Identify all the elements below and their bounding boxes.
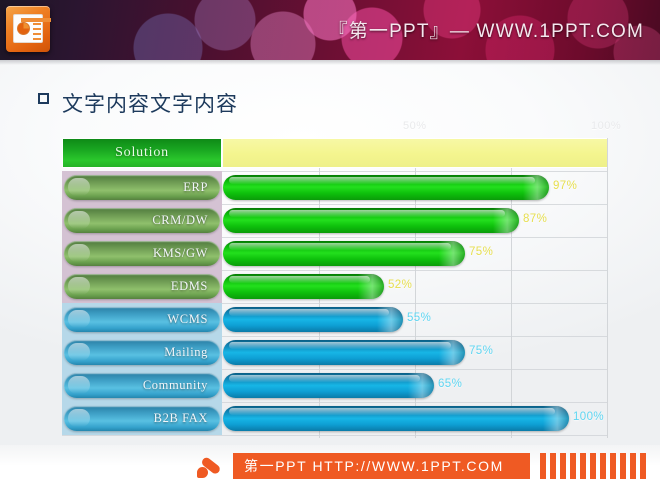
progress-bar bbox=[223, 175, 549, 200]
row-label-pill: Community bbox=[64, 373, 220, 398]
chart-header-row: Solution bbox=[62, 138, 607, 168]
progress-bar bbox=[223, 241, 465, 266]
chart-row[interactable]: B2B FAX100% bbox=[62, 402, 607, 435]
chart-header-solution-cell: Solution bbox=[62, 138, 222, 168]
powerpoint-logo-icon bbox=[6, 6, 50, 52]
bar-cap-highlight bbox=[523, 175, 549, 200]
bar-cap-highlight bbox=[408, 373, 434, 398]
bar-gloss bbox=[229, 276, 370, 283]
bar-value-label: 97% bbox=[553, 180, 577, 192]
row-label-pill: EDMS bbox=[64, 274, 220, 299]
footer-stripe bbox=[590, 453, 596, 479]
progress-bar bbox=[223, 274, 384, 299]
bar-value-label: 87% bbox=[523, 213, 547, 225]
row-label-pill: KMS/GW bbox=[64, 241, 220, 266]
row-label-cell: B2B FAX bbox=[62, 402, 222, 435]
bar-value-label: 100% bbox=[573, 411, 604, 423]
bar-cap-highlight bbox=[377, 307, 403, 332]
bar-gloss bbox=[229, 309, 389, 316]
row-label-pill: Mailing bbox=[64, 340, 220, 365]
footer-stripe bbox=[550, 453, 556, 479]
pen-tip-shape bbox=[197, 467, 208, 478]
footer-stripe bbox=[640, 453, 646, 479]
bar-gloss bbox=[229, 408, 555, 415]
row-label-pill: ERP bbox=[64, 175, 220, 200]
bar-cap-highlight bbox=[439, 241, 465, 266]
chart-row[interactable]: Mailing75% bbox=[62, 336, 607, 369]
scale-tick-100: 100% bbox=[591, 120, 621, 132]
banner-title: 『第一PPT』— WWW.1PPT.COM bbox=[329, 16, 644, 43]
pen-icon bbox=[196, 453, 224, 479]
progress-bar bbox=[223, 307, 403, 332]
chart-row[interactable]: CRM/DW87% bbox=[62, 204, 607, 237]
bar-track: 100% bbox=[223, 402, 607, 435]
bar-value-label: 52% bbox=[388, 279, 412, 291]
progress-bar bbox=[223, 373, 434, 398]
chart-row[interactable]: KMS/GW75% bbox=[62, 237, 607, 270]
progress-bar bbox=[223, 406, 569, 431]
row-label-cell: Community bbox=[62, 369, 222, 402]
footer-stripe bbox=[540, 453, 546, 479]
row-label-pill: CRM/DW bbox=[64, 208, 220, 233]
chart-row[interactable]: Community65% bbox=[62, 369, 607, 402]
chart-row[interactable]: EDMS52% bbox=[62, 270, 607, 303]
bar-cap-highlight bbox=[543, 406, 569, 431]
footer-stripe bbox=[610, 453, 616, 479]
chart-header-scale-bar bbox=[223, 138, 607, 168]
logo-line bbox=[33, 28, 41, 30]
bar-track: 75% bbox=[223, 237, 607, 270]
chart-row[interactable]: ERP97% bbox=[62, 171, 607, 204]
powerpoint-doc-shape bbox=[13, 14, 43, 43]
gridline bbox=[607, 138, 608, 438]
bar-gloss bbox=[229, 210, 505, 217]
row-label-cell: CRM/DW bbox=[62, 204, 222, 237]
bar-track: 65% bbox=[223, 369, 607, 402]
footer-stripe bbox=[600, 453, 606, 479]
footer-stripe bbox=[570, 453, 576, 479]
footer-stripes bbox=[540, 453, 658, 479]
bar-track: 55% bbox=[223, 303, 607, 336]
bar-track: 87% bbox=[223, 204, 607, 237]
progress-bar bbox=[223, 208, 519, 233]
page-title-text: 文字内容文字内容 bbox=[62, 93, 238, 116]
top-banner: 『第一PPT』— WWW.1PPT.COM bbox=[0, 0, 660, 60]
bar-cap-highlight bbox=[439, 340, 465, 365]
row-label-pill: WCMS bbox=[64, 307, 220, 332]
bar-value-label: 75% bbox=[469, 246, 493, 258]
solution-progress-chart: 50% 100% Solution ERP97%CRM/DW87%KMS/GW7… bbox=[62, 138, 607, 438]
footer: 第一PPT HTTP://WWW.1PPT.COM bbox=[0, 445, 660, 492]
row-label-cell: KMS/GW bbox=[62, 237, 222, 270]
footer-stripe bbox=[620, 453, 626, 479]
row-label-cell: WCMS bbox=[62, 303, 222, 336]
bar-value-label: 65% bbox=[438, 378, 462, 390]
bar-track: 75% bbox=[223, 336, 607, 369]
footer-url-banner[interactable]: 第一PPT HTTP://WWW.1PPT.COM bbox=[233, 453, 530, 479]
slide-top-shadow bbox=[0, 60, 660, 65]
chart-row[interactable]: WCMS55% bbox=[62, 303, 607, 336]
square-bullet-icon bbox=[38, 93, 49, 104]
row-separator bbox=[62, 435, 607, 436]
bar-track: 52% bbox=[223, 270, 607, 303]
bar-gloss bbox=[229, 243, 451, 250]
logo-line bbox=[33, 33, 41, 35]
row-label-cell: EDMS bbox=[62, 270, 222, 303]
page-title: 文字内容文字内容 bbox=[62, 88, 238, 118]
row-label-pill: B2B FAX bbox=[64, 406, 220, 431]
bar-gloss bbox=[229, 342, 451, 349]
row-label-cell: ERP bbox=[62, 171, 222, 204]
bar-track: 97% bbox=[223, 171, 607, 204]
bar-gloss bbox=[229, 375, 420, 382]
bar-value-label: 75% bbox=[469, 345, 493, 357]
logo-line bbox=[33, 23, 41, 25]
scale-tick-50: 50% bbox=[403, 120, 427, 132]
footer-stripe bbox=[580, 453, 586, 479]
row-label-cell: Mailing bbox=[62, 336, 222, 369]
bar-gloss bbox=[229, 177, 535, 184]
footer-stripe bbox=[630, 453, 636, 479]
footer-stripe bbox=[560, 453, 566, 479]
bar-cap-highlight bbox=[493, 208, 519, 233]
slide-body: 文字内容文字内容 50% 100% Solution ERP97%CRM/DW8… bbox=[0, 60, 660, 445]
pie-chart-icon bbox=[17, 22, 30, 35]
bar-cap-highlight bbox=[358, 274, 384, 299]
logo-line bbox=[33, 38, 41, 40]
progress-bar bbox=[223, 340, 465, 365]
bar-value-label: 55% bbox=[407, 312, 431, 324]
